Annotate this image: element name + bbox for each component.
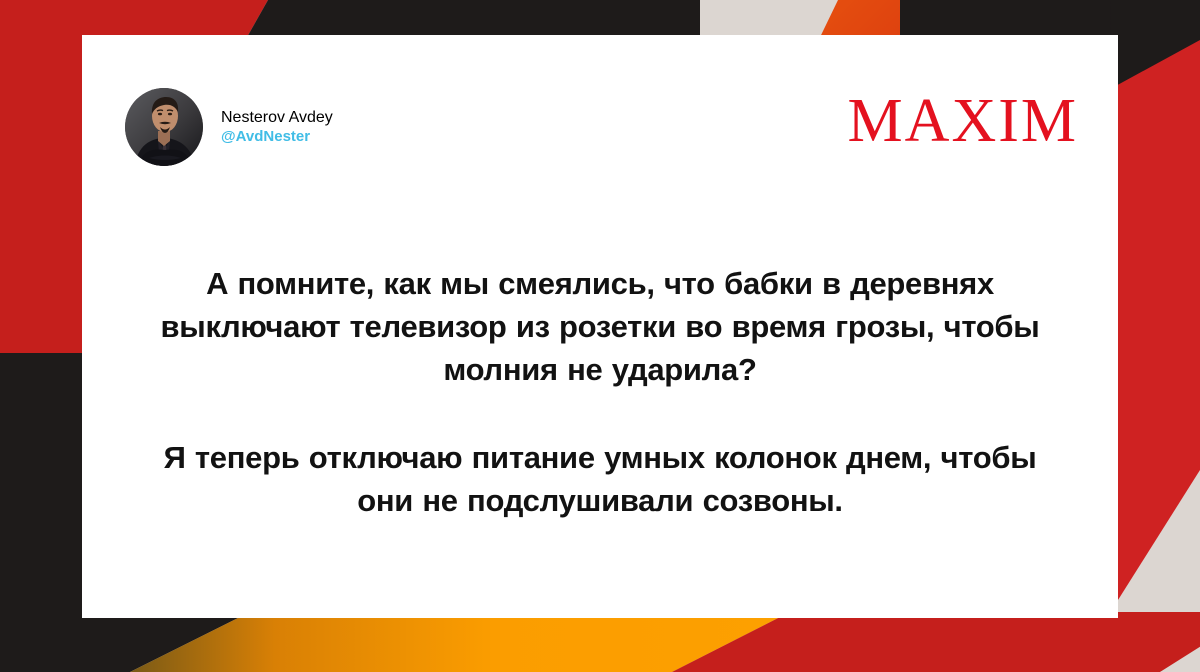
tweet-paragraph: А помните, как мы смеялись, что бабки в … [138, 263, 1062, 391]
author-name: Nesterov Avdey [221, 109, 333, 127]
avatar[interactable] [125, 88, 203, 166]
screenshot-root: Nesterov Avdey @AvdNester MAXIM А помнит… [0, 0, 1200, 672]
author-block[interactable]: Nesterov Avdey @AvdNester [125, 88, 333, 166]
tweet-body: А помните, как мы смеялись, что бабки в … [138, 263, 1062, 523]
author-handle[interactable]: @AvdNester [221, 129, 333, 146]
tweet-card: Nesterov Avdey @AvdNester MAXIM А помнит… [82, 35, 1118, 618]
author-text: Nesterov Avdey @AvdNester [221, 109, 333, 146]
tweet-paragraph: Я теперь отключаю питание умных колонок … [138, 437, 1062, 523]
maxim-logo: MAXIM [848, 90, 1078, 152]
card-header: Nesterov Avdey @AvdNester MAXIM [125, 88, 1078, 184]
